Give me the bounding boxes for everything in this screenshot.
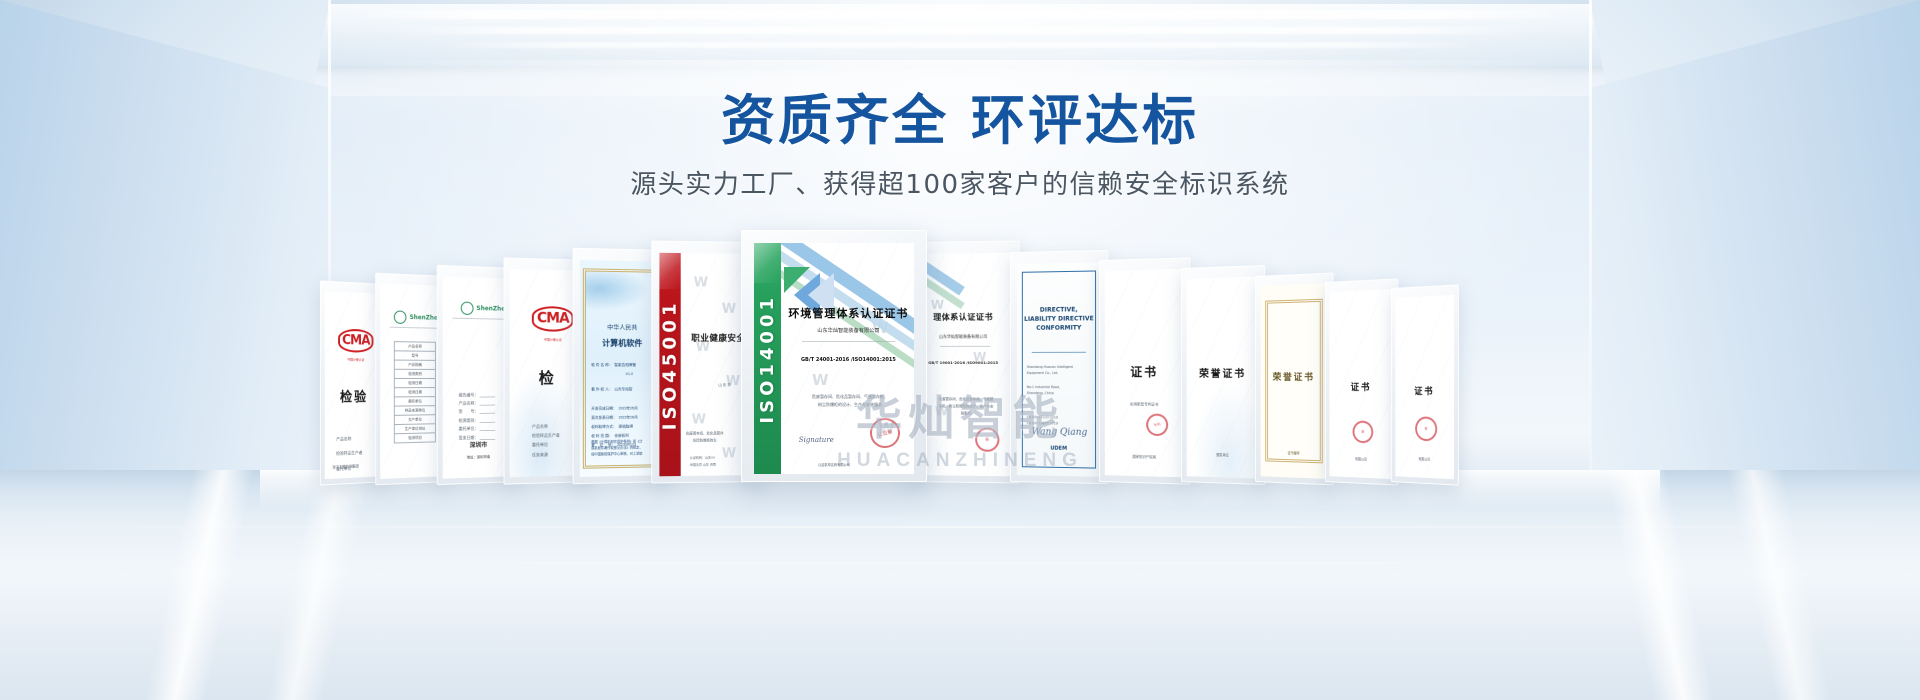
- iso-spine-text-6: ISO45001: [659, 299, 680, 430]
- certificate-title-8: 理体系认证证书: [915, 311, 1012, 323]
- certificate-frame-10[interactable]: 证书 实用新型专利证书 专利 国家知识产权局: [1099, 257, 1190, 484]
- w-mark-6e: W: [692, 412, 706, 427]
- ceiling-light-strip-2: [395, 27, 1525, 34]
- certificate-title-14: 证书: [1396, 384, 1454, 397]
- certificate-frame-9[interactable]: DIRECTIVE,LIABILITY DIRECTIVECONFORMITY …: [1010, 250, 1108, 484]
- cma-badge-4: CMA中国计量认证: [532, 306, 574, 332]
- certificate-fields-5: 软 件 名 称： 智能告知牌管 V1.0 著 作 权 人： 山东华灿智 开发完成…: [591, 361, 654, 450]
- certificate-inner-8: W W W 理体系认证证书 山东华灿智能装备有限公司 GB/T 19001-20…: [915, 253, 1012, 476]
- certificate-title-1: 检验: [325, 386, 383, 406]
- certificate-paper-12: 荣誉证书 证书编号: [1260, 283, 1328, 478]
- certificate-title-11: 荣誉证书: [1187, 364, 1259, 379]
- divider-7: [802, 341, 895, 342]
- ornate-border-5: 中华人民共 计算机软件 软 件 名 称： 智能告知牌管 V1.0 著 作 权 人…: [583, 268, 661, 468]
- certifier-logo-2: ShenZhenTEST: [394, 311, 443, 326]
- certificate-body-9: Shandong Huacan IntelligentEquipment Co.…: [1027, 363, 1095, 397]
- certificate-standard-9: EN ISO 12100:2010EN ISO 13857:2019: [1027, 414, 1095, 428]
- official-seal-8: 章: [973, 425, 1002, 454]
- ornate-flourish-5: [586, 272, 658, 315]
- certificate-frame-14[interactable]: 证书 章 有限公司: [1391, 284, 1459, 485]
- certifier-dot-2: [394, 311, 407, 325]
- certificate-paper-13: 证书 章 有限公司: [1330, 289, 1393, 479]
- page-title: 资质齐全环评达标: [0, 92, 1920, 150]
- certificate-footer-14: 有限公司: [1396, 457, 1454, 465]
- certificate-fields-1: 产品名称检验样品生产者委托单位任务来源: [336, 435, 362, 480]
- certificate-paper-10: 证书 实用新型专利证书 专利 国家知识产权局: [1105, 269, 1184, 478]
- ceiling-light-strip-3: [443, 42, 1478, 48]
- certificate-frame-7[interactable]: W W W W ISO14001: [741, 230, 927, 482]
- certificate-footer-10: 国家知识产权局: [1105, 453, 1184, 461]
- certificate-paper-2: ShenZhenTEST 产品名称 型号 产品规格 检测类别 检测日期 检测日期…: [380, 283, 443, 478]
- certificate-scope-6: 危废暂存间、危化品暂存危险防爆柜的生: [686, 430, 724, 445]
- certificate-paper-11: 荣誉证书 颁发单位: [1187, 276, 1259, 478]
- certificate-body-10: 实用新型专利证书: [1105, 401, 1184, 408]
- certificate-title-13: 证书: [1330, 380, 1393, 393]
- certificate-paper-9: DIRECTIVE,LIABILITY DIRECTIVECONFORMITY …: [1017, 262, 1102, 477]
- certificate-inner-13: 证书 章 有限公司: [1330, 289, 1393, 479]
- certificate-paper-8: W W W 理体系认证证书 山东华灿智能装备有限公司 GB/T 19001-20…: [915, 253, 1012, 476]
- floor: [0, 470, 1920, 700]
- floor-reflection-right: [1460, 470, 1920, 700]
- cma-badge-sub-4: 中国计量认证: [534, 329, 572, 351]
- certificate-paper-7: W W W W ISO14001: [754, 243, 914, 475]
- iso-spine-6: ISO45001: [659, 253, 680, 476]
- certificate-title-7: 环境管理体系认证证书: [786, 305, 911, 321]
- certificate-note-5: 根据《计算机软件保护条例》和《计算机软件著作权登记办法》的规定，经中国版权保护中…: [591, 438, 654, 457]
- certificate-inner-10: 证书 实用新型专利证书 专利 国家知识产权局: [1105, 269, 1184, 478]
- spine-highlight-6: [659, 253, 680, 290]
- divider-8: [940, 346, 990, 347]
- certificate-title-5: 计算机软件: [586, 337, 658, 348]
- certificate-table-2: 产品名称 型号 产品规格 检测类别 检测日期 检测日期 委托单位 样品来源单位 …: [394, 341, 435, 443]
- cma-badge-1: CMA中国计量认证: [338, 328, 373, 352]
- certificate-standard-8: GB/T 19001-2016 /ISO9001:2015: [915, 360, 1012, 365]
- certificate-header-5: 中华人民共: [586, 322, 658, 332]
- page-subtitle: 源头实力工厂、获得超100家客户的信赖安全标识系统: [0, 164, 1920, 201]
- headline-part-1: 资质齐全: [721, 89, 949, 152]
- certificate-footer-6: 认证机构：山东XX中国北京·山东·济南: [690, 454, 716, 468]
- certificate-inner-11: 荣誉证书 颁发单位: [1187, 276, 1259, 478]
- certificate-company-7: 山东华灿智能装备有限公司: [786, 327, 911, 334]
- certificate-company-6: 山 东 华: [718, 382, 730, 388]
- certificate-standard-7: GB/T 24001-2016 /ISO14001:2015: [786, 357, 911, 363]
- certificate-footer-13: 有限公司: [1330, 456, 1393, 464]
- certificate-paper-14: 证书 章 有限公司: [1396, 295, 1454, 480]
- certificate-footer-1: 浙江方圆检测集团: [332, 463, 358, 471]
- iso-spine-text-7: ISO14001: [757, 294, 778, 424]
- floor-reflection-left: [0, 470, 460, 700]
- certificate-inner-14: 证书 章 有限公司: [1396, 295, 1454, 480]
- certificate-inner-2: ShenZhenTEST 产品名称 型号 产品规格 检测类别 检测日期 检测日期…: [380, 283, 443, 478]
- w-mark-6a: W: [694, 275, 708, 290]
- certificate-title-12: 荣誉证书: [1260, 370, 1328, 383]
- certificate-inner-7: W W W W ISO14001: [754, 243, 914, 475]
- cma-badge-sub-1: 中国计量认证: [340, 350, 372, 370]
- certificate-paper-1: CMA中国计量认证 检验 产品名称检验样品生产者委托单位任务来源 浙江方圆检测集…: [325, 291, 383, 479]
- w-mark-8a: W: [931, 298, 944, 312]
- certificate-wall: CMA中国计量认证 检验 产品名称检验样品生产者委托单位任务来源 浙江方圆检测集…: [315, 232, 1605, 482]
- certificate-inner-12: 荣誉证书 证书编号: [1260, 283, 1328, 478]
- certificate-fields-3: 报告编号： ________ 产品名称： ________ 型 号： _____…: [459, 391, 496, 443]
- signature-9: Wang Qiang: [1032, 427, 1088, 438]
- official-seal-13: 章: [1350, 418, 1375, 445]
- certificate-fields-4: 产品名称检验样品生产者委托单位任务来源: [532, 422, 560, 460]
- certificate-title-9: DIRECTIVE,LIABILITY DIRECTIVECONFORMITY: [1023, 305, 1094, 333]
- certificate-frame-12[interactable]: 荣誉证书 证书编号: [1255, 273, 1334, 486]
- official-seal-14: 章: [1413, 414, 1440, 443]
- certificate-frame-11[interactable]: 荣誉证书 颁发单位: [1181, 265, 1265, 485]
- signature-7: Signature: [799, 436, 834, 444]
- certificate-footer-7: 认证机构名称有限公司: [754, 463, 914, 469]
- headline-block: 资质齐全环评达标 源头实力工厂、获得超100家客户的信赖安全标识系统: [0, 92, 1920, 201]
- official-seal-10: 专利: [1143, 412, 1170, 439]
- paper-tint-11: [1187, 367, 1259, 478]
- ceiling-light-strip-1: [345, 10, 1575, 19]
- headline-part-2: 环评达标: [971, 89, 1199, 152]
- header-rule-3: [453, 317, 506, 319]
- certificate-title-10: 证书: [1105, 363, 1184, 380]
- w-mark-6f: W: [722, 446, 736, 461]
- certificate-frame-13[interactable]: 证书 章 有限公司: [1325, 278, 1398, 485]
- certificate-company-8: 山东华灿智能装备有限公司: [915, 334, 1012, 340]
- spine-highlight-7: [754, 243, 781, 283]
- certificate-inner-1: CMA中国计量认证 检验 产品名称检验样品生产者委托单位任务来源 浙江方圆检测集…: [325, 291, 383, 479]
- header-rule-2: [390, 327, 437, 329]
- certificate-banner: 资质齐全环评达标 源头实力工厂、获得超100家客户的信赖安全标识系统 CMA中国…: [0, 0, 1920, 700]
- w-mark-6b: W: [722, 302, 736, 317]
- certificate-scope-7: 危废暂存间、危化品暂存间、气瓶暂存柜、粉尘防爆柜的设计、生产与安装服务: [792, 393, 907, 409]
- certificate-issuer-9: UDEM: [1017, 444, 1102, 454]
- iso-spine-7: ISO14001: [754, 243, 781, 475]
- certifier-dot-3: [461, 301, 474, 315]
- certificate-inner-9: DIRECTIVE,LIABILITY DIRECTIVECONFORMITY …: [1017, 262, 1102, 477]
- certificate-scope-8: 危废暂存间、危化品暂存间、气瓶暂存柜、粉尘防爆柜的设计、生产与安装服务: [926, 396, 1006, 417]
- divider-9: [1032, 351, 1086, 352]
